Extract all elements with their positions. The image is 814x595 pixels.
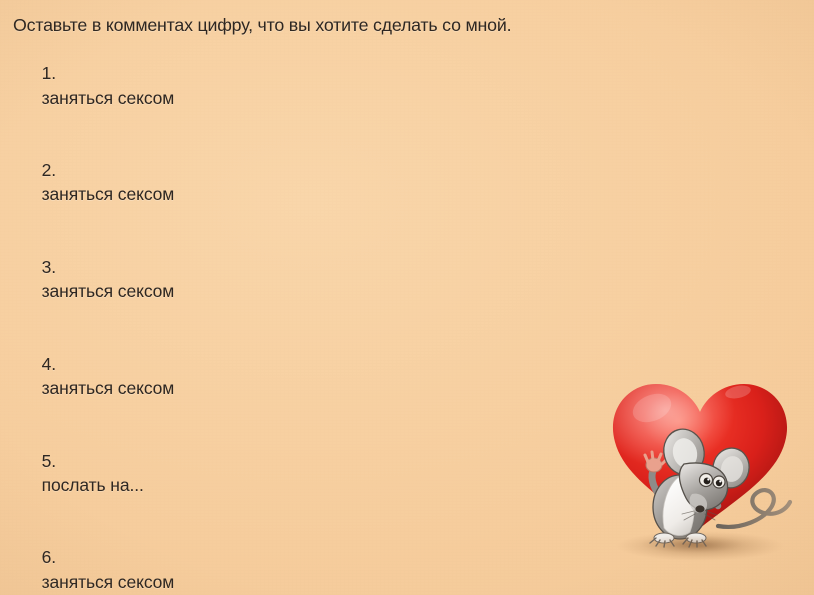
list-item-text: заняться сексом (42, 184, 175, 204)
list-item-4: 4. заняться сексом (13, 328, 613, 425)
meme-text-block: Оставьте в комментах цифру, что вы хотит… (13, 13, 613, 595)
list-item-text: заняться сексом (42, 88, 175, 108)
heading-line: Оставьте в комментах цифру, что вы хотит… (13, 13, 613, 37)
list-item-text: заняться сексом (42, 572, 175, 592)
list-item-text: заняться сексом (42, 281, 175, 301)
list-item-number: 5. (42, 449, 61, 473)
image-canvas: Оставьте в комментах цифру, что вы хотит… (0, 0, 814, 595)
list-item-number: 3. (42, 255, 61, 279)
list-item-2: 2. заняться сексом (13, 134, 613, 231)
list-item-5: 5. послать на... (13, 424, 613, 521)
list-item-number: 4. (42, 352, 61, 376)
list-item-number: 6. (42, 545, 61, 569)
mouse-holding-heart-illustration (588, 368, 814, 595)
contact-shadow (640, 535, 744, 553)
list-item-6: 6. заняться сексом (13, 521, 613, 595)
list-item-number: 2. (42, 158, 61, 182)
list-item-text: заняться сексом (42, 378, 175, 398)
list-item-1: 1. заняться сексом (13, 37, 613, 134)
list-item-text: послать на... (42, 475, 144, 495)
list-item-3: 3. заняться сексом (13, 231, 613, 328)
mouse-nose (695, 505, 704, 512)
list-item-number: 1. (42, 61, 61, 85)
